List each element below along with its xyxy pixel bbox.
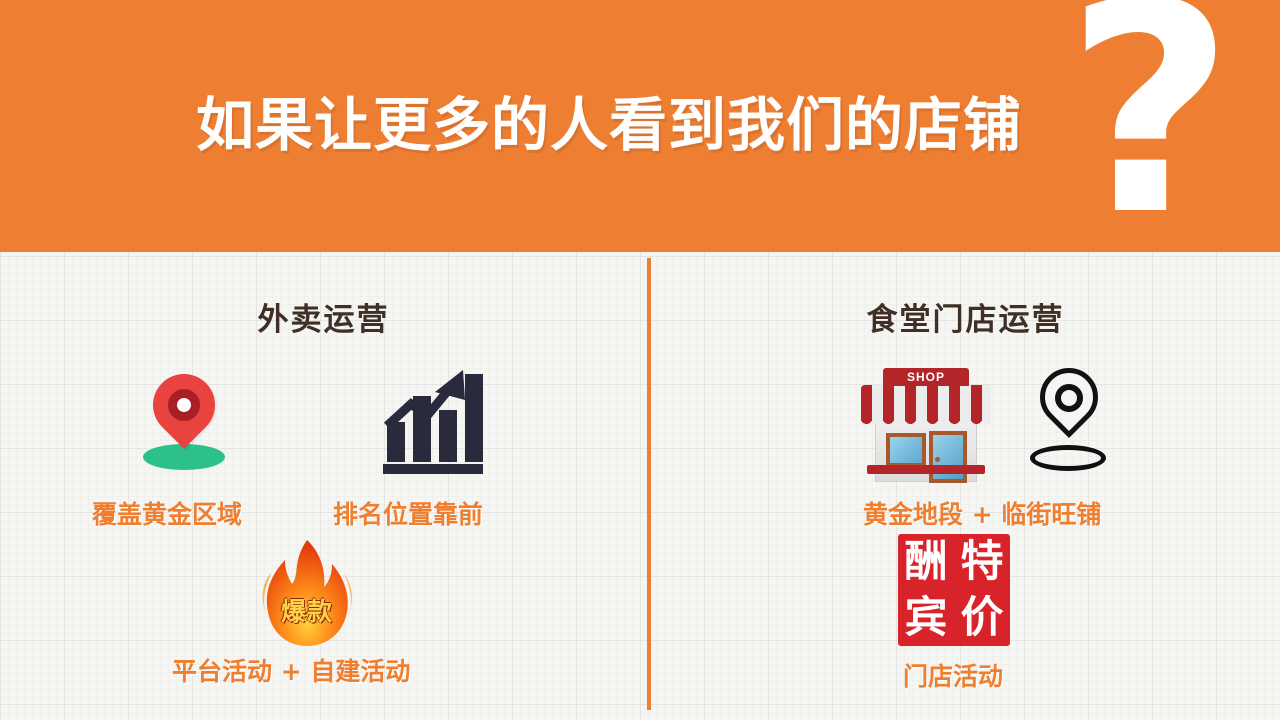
seal-square: 酬 特 宾 价 [898,534,1010,646]
column-takeout-operations: 外卖运营 覆盖黄金区域 排名位置靠前 [0,252,647,720]
location-pin-outline-icon [1026,368,1112,474]
special-price-seal-icon: 酬 特 宾 价 [898,534,1010,646]
header-banner: 如果让更多的人看到我们的店铺 ? [0,0,1280,252]
slide-canvas: 如果让更多的人看到我们的店铺 ? 外卖运营 覆盖黄金区域 排名位置靠前 [0,0,1280,720]
storefront-icon: SHOP [861,368,991,474]
map-pin-ring [168,389,200,421]
chart-bar-1 [387,422,405,462]
map-pin-icon [135,374,233,472]
seal-char-3: 宾 [898,590,954,646]
chart-bar-3 [439,410,457,462]
question-mark-icon: ? [1066,0,1234,252]
pin-outline-base [1030,445,1106,471]
seal-char-4: 价 [954,590,1010,646]
chart-bar-2 [413,396,431,462]
column-title-takeout: 外卖运营 [0,294,647,339]
item-label-golden-area-coverage: 覆盖黄金区域 [92,495,242,531]
page-title: 如果让更多的人看到我们的店铺 [196,96,1022,154]
pin-outline-hole [1055,384,1083,412]
chart-baseline [383,464,483,474]
shop-base [867,465,985,474]
bar-chart-growth-icon [383,366,483,474]
shop-awning [861,385,991,421]
item-label-prime-location-street-shop: 黄金地段 + 临街旺铺 [863,495,1101,531]
item-label-store-promotion: 门店活动 [903,657,1003,693]
shop-door [929,431,967,483]
seal-char-2: 特 [954,534,1010,590]
flame-shape-icon [252,532,362,650]
chart-bar-4 [465,374,483,462]
shop-window [886,433,926,467]
flame-label: 爆款 [252,592,362,628]
item-label-platform-and-self-activities: 平台活动 + 自建活动 [172,652,410,688]
item-label-top-ranking-position: 排名位置靠前 [333,495,483,531]
column-canteen-store-operations: 食堂门店运营 SHOP 黄金地段 + 临街旺铺 酬 特 宾 价 [651,252,1280,720]
column-title-canteen-store: 食堂门店运营 [651,294,1280,339]
seal-char-1: 酬 [898,534,954,590]
flame-hot-item-icon: 爆款 [252,532,362,650]
shop-sign-text: SHOP [883,368,969,386]
